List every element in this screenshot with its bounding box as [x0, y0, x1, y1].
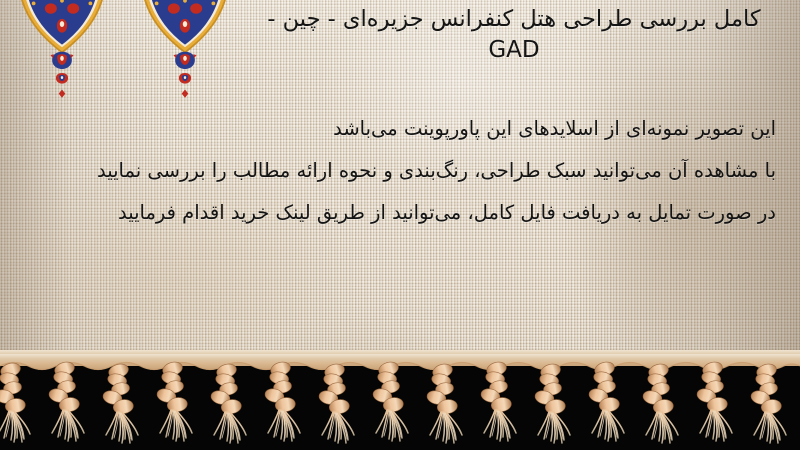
slide-body-text: این تصویر نمونه‌ای از اسلایدهای این پاور…	[76, 108, 776, 234]
body-line-1: این تصویر نمونه‌ای از اسلایدهای این پاور…	[76, 108, 776, 150]
slide-title: کامل بررسی طراحی هتل کنفرانس جزیره‌ای - …	[236, 4, 792, 66]
body-line-2: با مشاهده آن می‌توانید سبک طراحی، رنگ‌بن…	[76, 150, 776, 192]
slide-canvas: کامل بررسی طراحی هتل کنفرانس جزیره‌ای - …	[0, 0, 800, 450]
carpet-medallion-ornament-2	[140, 0, 229, 98]
slide-title-line-2: GAD	[236, 35, 792, 66]
carpet-medallion-ornament-group	[0, 0, 260, 105]
body-line-3: در صورت تمایل به دریافت فایل کامل، می‌تو…	[76, 192, 776, 234]
slide-title-line-1: کامل بررسی طراحی هتل کنفرانس جزیره‌ای - …	[236, 4, 792, 35]
carpet-medallion-ornament-1	[17, 0, 106, 98]
carpet-fringe-border	[0, 350, 800, 450]
